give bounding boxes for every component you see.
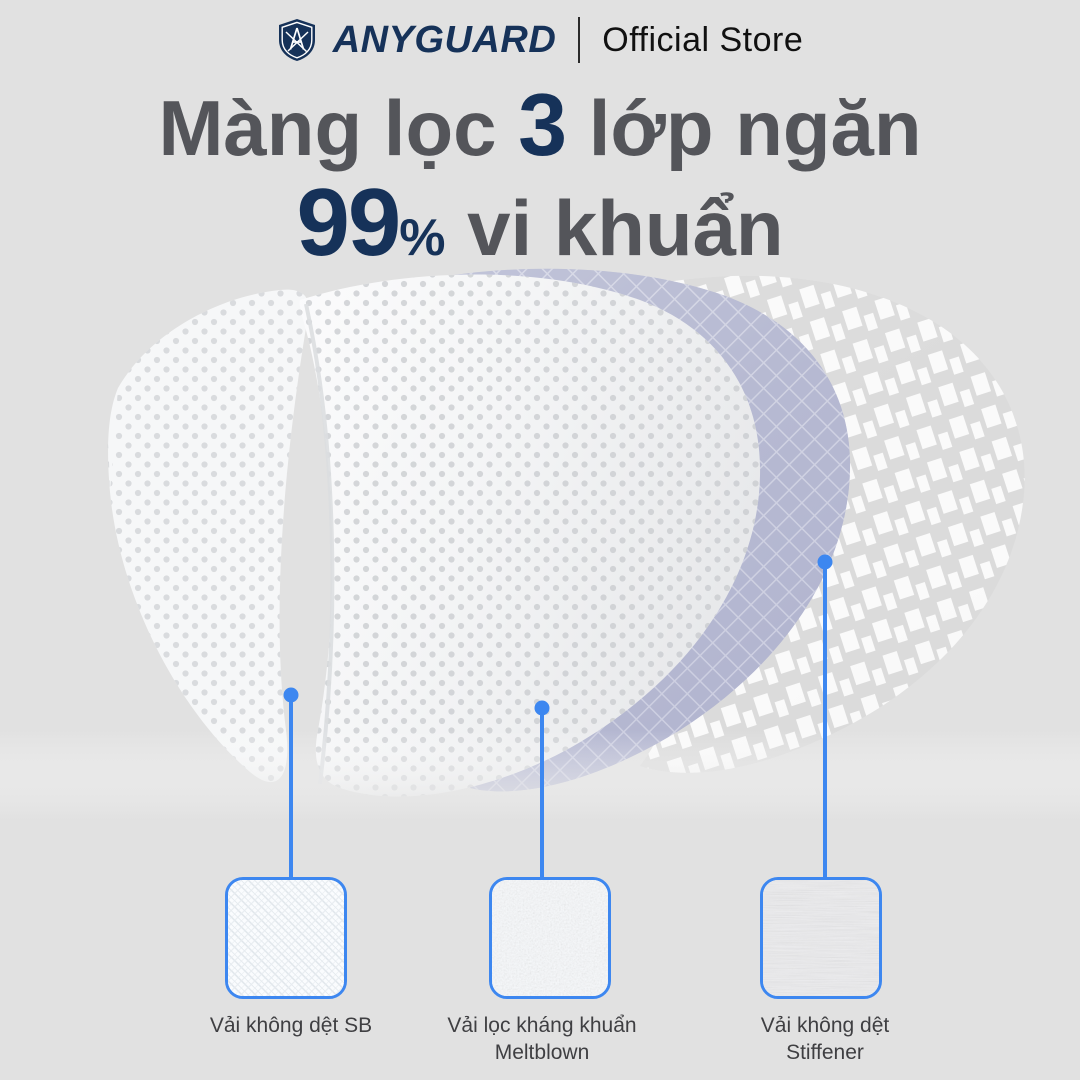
poster-canvas: ANYGUARD Official Store Màng lọc 3 lớp n…: [0, 0, 1080, 1080]
brand-name: ANYGUARD: [333, 21, 557, 59]
page-title: Màng lọc 3 lớp ngăn 99% vi khuẩn: [0, 80, 1080, 272]
callout-label-stiffener-line2: Stiffener: [675, 1040, 975, 1067]
swatch-card-sb[interactable]: [225, 877, 347, 999]
callout-label-stiffener: Vải không dệt Stiffener: [675, 1013, 975, 1067]
callout-label-meltblown-line1: Vải lọc kháng khuẩn: [392, 1013, 692, 1040]
headline-text-1: Màng lọc: [158, 84, 496, 172]
callout-label-stiffener-line1: Vải không dệt: [675, 1013, 975, 1040]
callout-dot-meltblown[interactable]: [535, 701, 550, 716]
brand-header: ANYGUARD Official Store: [0, 14, 1080, 66]
headline-layer-count: 3: [518, 75, 567, 174]
callout-label-meltblown-line2: Meltblown: [392, 1040, 692, 1067]
swatch-texture-meltblown: [492, 880, 608, 996]
headline-text-3: vi khuẩn: [467, 184, 783, 272]
headline-text-2: lớp ngăn: [589, 84, 922, 172]
swatch-card-stiffener[interactable]: [760, 877, 882, 999]
callout-line-meltblown: [540, 708, 544, 877]
headline-line-1: Màng lọc 3 lớp ngăn: [0, 80, 1080, 170]
headline-line-2: 99% vi khuẩn: [0, 174, 1080, 272]
swatch-texture-stiffener: [763, 880, 879, 996]
callout-dot-stiffener[interactable]: [818, 555, 833, 570]
shield-icon: [277, 18, 317, 62]
swatch-texture-sb: [228, 880, 344, 996]
callout-dot-sb[interactable]: [284, 688, 299, 703]
callout-line-stiffener: [823, 562, 827, 877]
official-store-label: Official Store: [602, 23, 803, 57]
brand-divider: [578, 17, 580, 63]
callout-line-sb: [289, 695, 293, 877]
swatch-card-meltblown[interactable]: [489, 877, 611, 999]
callout-label-meltblown: Vải lọc kháng khuẩn Meltblown: [392, 1013, 692, 1067]
headline-percent-symbol: %: [399, 209, 445, 267]
